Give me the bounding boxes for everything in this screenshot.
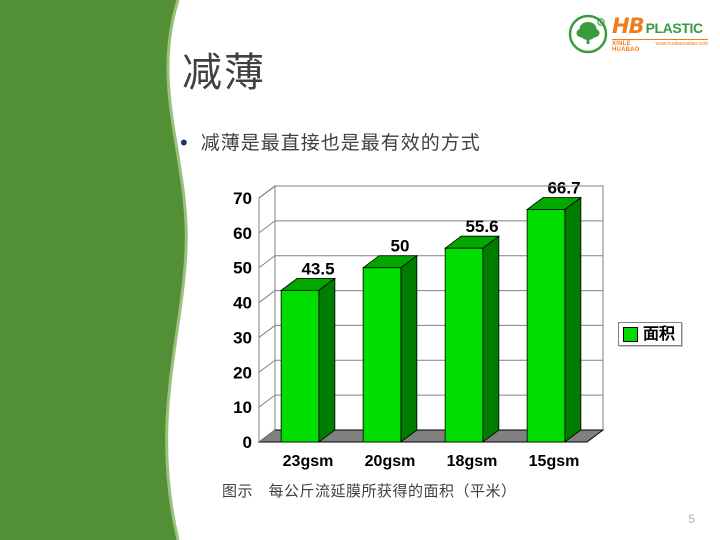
y-axis-tick-label: 0 <box>243 433 252 452</box>
bar-front-face <box>281 290 319 442</box>
y-axis-tick-label: 50 <box>233 259 252 278</box>
slide-canvas: R HB PLASTIC XINLE HUABAO www.huabaosuli… <box>0 0 720 540</box>
bar-front-face <box>527 210 565 442</box>
y-axis-tick-label: 40 <box>233 294 252 313</box>
bar-data-label: 43.5 <box>301 259 334 278</box>
y-axis-tick-label: 30 <box>233 328 252 347</box>
bar-group <box>363 256 417 442</box>
logo-hb-text: HB <box>612 16 644 37</box>
bullet-list-item: • 减薄是最直接也是最有效的方式 <box>180 130 481 156</box>
chart-side-wall <box>259 186 275 442</box>
green-tree-roundel-icon: R <box>568 14 608 54</box>
bar-front-face <box>445 248 483 442</box>
bar-side-face <box>565 198 581 442</box>
svg-text:R: R <box>600 20 603 25</box>
y-axis-tick-label: 60 <box>233 224 252 243</box>
legend-swatch-area <box>623 327 638 342</box>
bar-side-face <box>483 236 499 442</box>
sidebar-band-fill <box>0 0 186 540</box>
page-number: 5 <box>688 512 695 526</box>
y-axis-tick-label: 10 <box>233 398 252 417</box>
y-axis-tick-label: 70 <box>233 189 252 208</box>
logo-plastic-text: PLASTIC <box>646 21 703 35</box>
bar-front-face <box>363 268 401 442</box>
bar-data-label: 55.6 <box>465 217 498 236</box>
bar-data-label: 66.7 <box>547 179 580 198</box>
chart-caption: 图示 每公斤流延膜所获得的面积（平米） <box>222 480 517 501</box>
bar-chart-svg: 01020304050607043.523gsm5020gsm55.618gsm… <box>215 176 615 472</box>
bar-chart: 01020304050607043.523gsm5020gsm55.618gsm… <box>215 176 615 472</box>
logo-company-text: XINLE HUABAO <box>612 41 652 53</box>
bar-group <box>281 278 335 442</box>
x-axis-category-label: 20gsm <box>365 453 416 470</box>
chart-legend: 面积 <box>618 322 682 346</box>
y-axis-tick-label: 20 <box>233 363 252 382</box>
bar-group <box>527 198 581 442</box>
x-axis-category-label: 18gsm <box>447 453 498 470</box>
page-title: 减薄 <box>182 40 266 98</box>
company-logo: R HB PLASTIC XINLE HUABAO www.huabaosuli… <box>568 12 708 56</box>
sidebar-decoration <box>0 0 200 540</box>
x-axis-category-label: 15gsm <box>529 453 580 470</box>
logo-sub-line: XINLE HUABAO www.huabaosuliao.com <box>612 39 708 53</box>
x-axis-category-label: 23gsm <box>283 453 334 470</box>
bullet-text: 减薄是最直接也是最有效的方式 <box>201 130 481 156</box>
bar-side-face <box>401 256 417 442</box>
legend-label-area: 面积 <box>643 326 675 342</box>
bullet-marker-icon: • <box>180 130 188 156</box>
bar-group <box>445 236 499 442</box>
logo-main-line: HB PLASTIC <box>612 16 708 37</box>
logo-wordmark: HB PLASTIC XINLE HUABAO www.huabaosuliao… <box>612 16 708 53</box>
logo-website-text: www.huabaosuliao.com <box>655 42 708 47</box>
bar-data-label: 50 <box>391 237 410 256</box>
bar-side-face <box>319 278 335 442</box>
